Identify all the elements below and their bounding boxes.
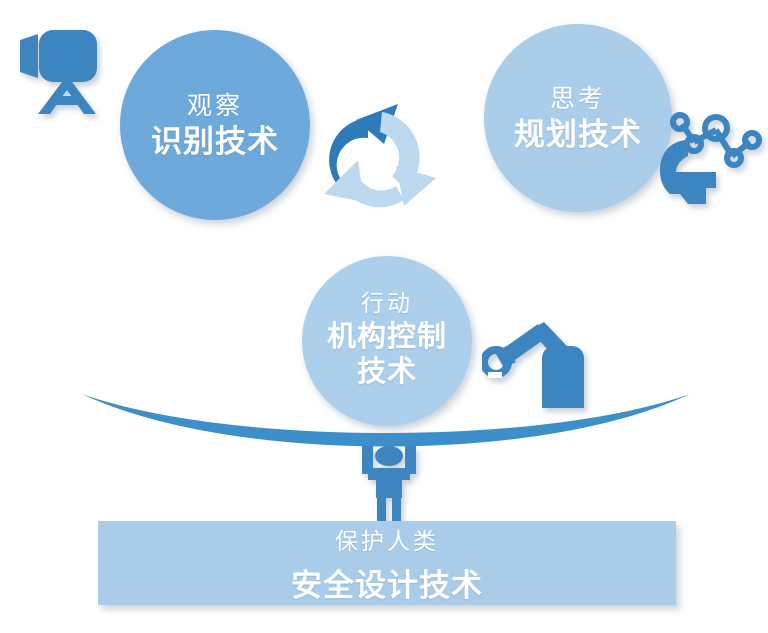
node-think-label: 规划技术	[514, 119, 642, 150]
node-act-label: 机构控制 技术	[327, 320, 447, 391]
safety-foundation-bar[interactable]: 保护人类 安全设计技术	[98, 521, 676, 605]
node-act-label-line2: 技术	[327, 355, 447, 390]
node-act-sublabel: 行动	[361, 292, 413, 315]
circular-arrows-icon	[312, 82, 448, 228]
safety-sublabel: 保护人类	[335, 522, 439, 556]
diagram-canvas: 观察 识别技术 思考 规划技术	[0, 0, 768, 633]
video-camera-icon	[8, 24, 108, 116]
node-think[interactable]: 思考 规划技术	[484, 24, 672, 212]
brain-network-icon	[658, 112, 764, 210]
node-act-label-line1: 机构控制	[327, 320, 447, 355]
node-observe[interactable]: 观察 识别技术	[120, 30, 310, 220]
node-observe-label: 识别技术	[151, 126, 279, 157]
safety-label: 安全设计技术	[291, 560, 483, 605]
node-observe-sublabel: 观察	[187, 94, 243, 119]
node-think-sublabel: 思考	[550, 87, 606, 112]
person-lifting-icon	[358, 442, 420, 526]
